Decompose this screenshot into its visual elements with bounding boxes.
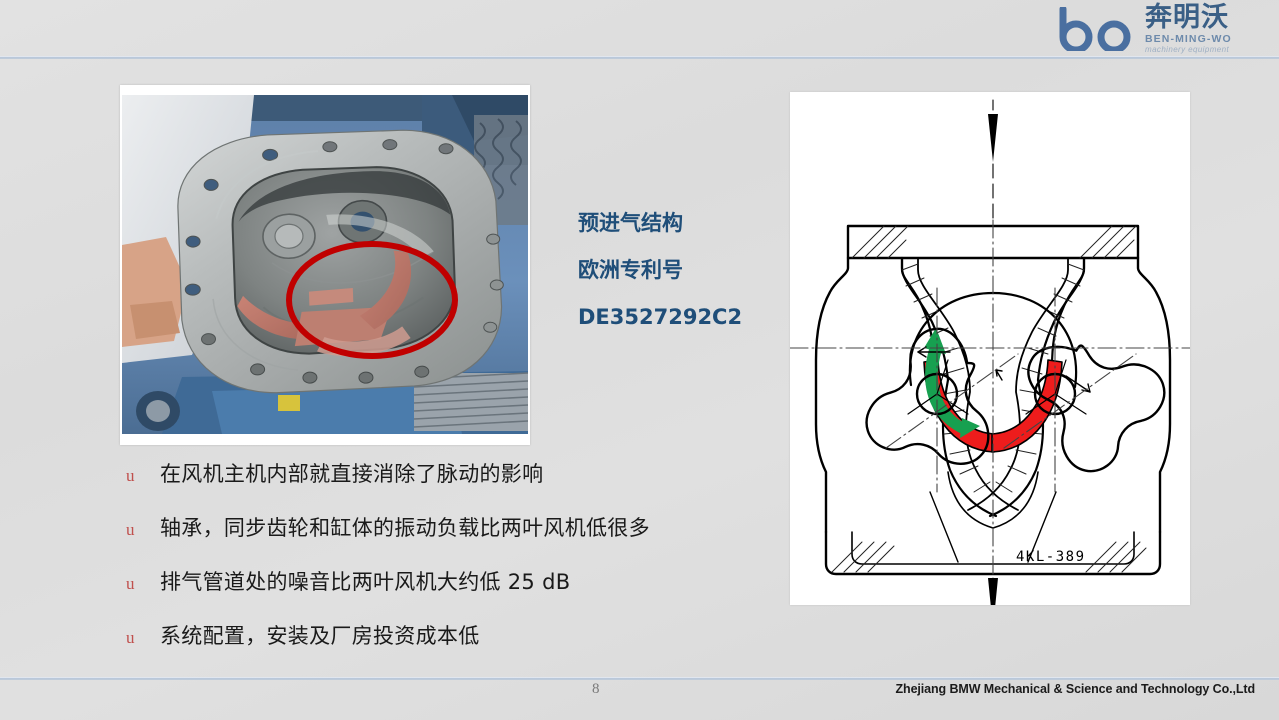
list-item: u 在风机主机内部就直接消除了脉动的影响 — [122, 462, 762, 516]
list-item: u 轴承，同步齿轮和缸体的振动负载比两叶风机低很多 — [122, 516, 762, 570]
blower-casing-photo — [122, 95, 528, 434]
inlet-arrow-down — [988, 100, 998, 218]
heading-line-2: 欧洲专利号 — [578, 247, 793, 294]
list-item-label: 排气管道处的噪音比两叶风机大约低 25 dB — [160, 570, 570, 594]
list-item-label: 轴承，同步齿轮和缸体的振动负载比两叶风机低很多 — [160, 516, 650, 540]
list-item-label: 系统配置，安装及厂房投资成本低 — [160, 624, 480, 648]
three-lobe-blower-cross-section: 4KL-389 — [790, 92, 1190, 605]
logo-english-name: BEN-MING-WO — [1145, 33, 1277, 45]
bullet-list: u 在风机主机内部就直接消除了脉动的影响 u 轴承，同步齿轮和缸体的振动负载比两… — [122, 462, 762, 678]
bullet-marker-icon: u — [122, 574, 160, 594]
heading-block: 预进气结构 欧洲专利号 DE3527292C2 — [578, 200, 793, 341]
list-item-label: 在风机主机内部就直接消除了脉动的影响 — [160, 462, 543, 486]
outlet-arrow-down — [988, 578, 998, 605]
rotation-arrow-icon — [924, 328, 980, 438]
drawing-label: 4KL-389 — [1016, 549, 1086, 565]
company-logo: 奔明沃 BEN-MING-WO machinery equipment — [1057, 3, 1277, 57]
logo-chinese-name: 奔明沃 — [1145, 3, 1277, 33]
list-item: u 系统配置，安装及厂房投资成本低 — [122, 624, 762, 678]
photo-frame — [120, 85, 530, 445]
list-item: u 排气管道处的噪音比两叶风机大约低 25 dB — [122, 570, 762, 624]
bullet-marker-icon: u — [122, 520, 160, 540]
logo-tagline: machinery equipment — [1145, 45, 1277, 55]
heading-line-3: DE3527292C2 — [578, 294, 793, 341]
page-number: 8 — [592, 681, 600, 698]
rotor-right — [998, 305, 1176, 482]
bo-monogram-icon — [1057, 7, 1143, 51]
bullet-marker-icon: u — [122, 628, 160, 648]
footer-company-name: Zhejiang BMW Mechanical & Science and Te… — [896, 682, 1256, 696]
bullet-marker-icon: u — [122, 466, 160, 486]
heading-line-1: 预进气结构 — [578, 200, 793, 247]
presentation-slide: 奔明沃 BEN-MING-WO machinery equipment — [0, 0, 1279, 720]
